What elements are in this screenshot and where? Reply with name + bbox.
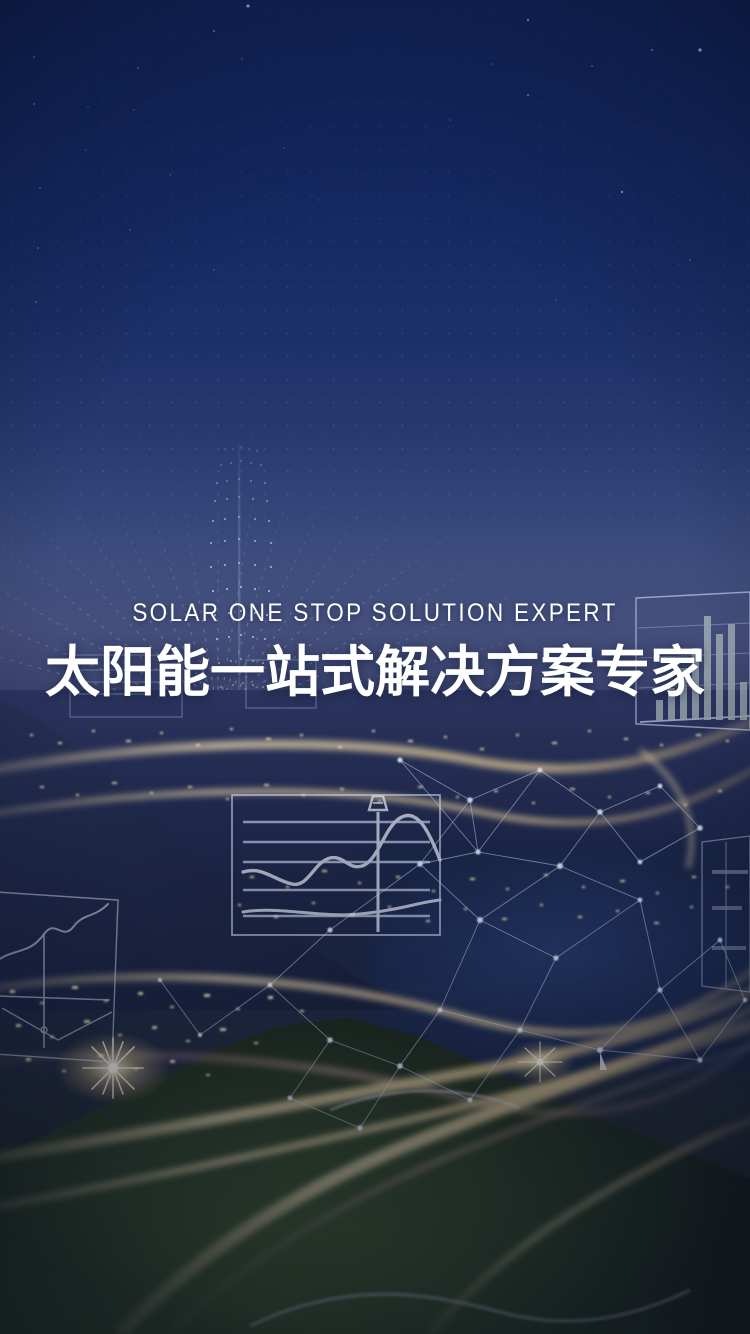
banner-headline: 太阳能一站式解决方案专家 (0, 640, 750, 704)
banner-eyebrow: SOLAR ONE STOP SOLUTION EXPERT (38, 598, 713, 628)
solar-banner-hero: SOLAR ONE STOP SOLUTION EXPERT 太阳能一站式解决方… (0, 0, 750, 1334)
banner-copy: SOLAR ONE STOP SOLUTION EXPERT 太阳能一站式解决方… (0, 598, 750, 704)
